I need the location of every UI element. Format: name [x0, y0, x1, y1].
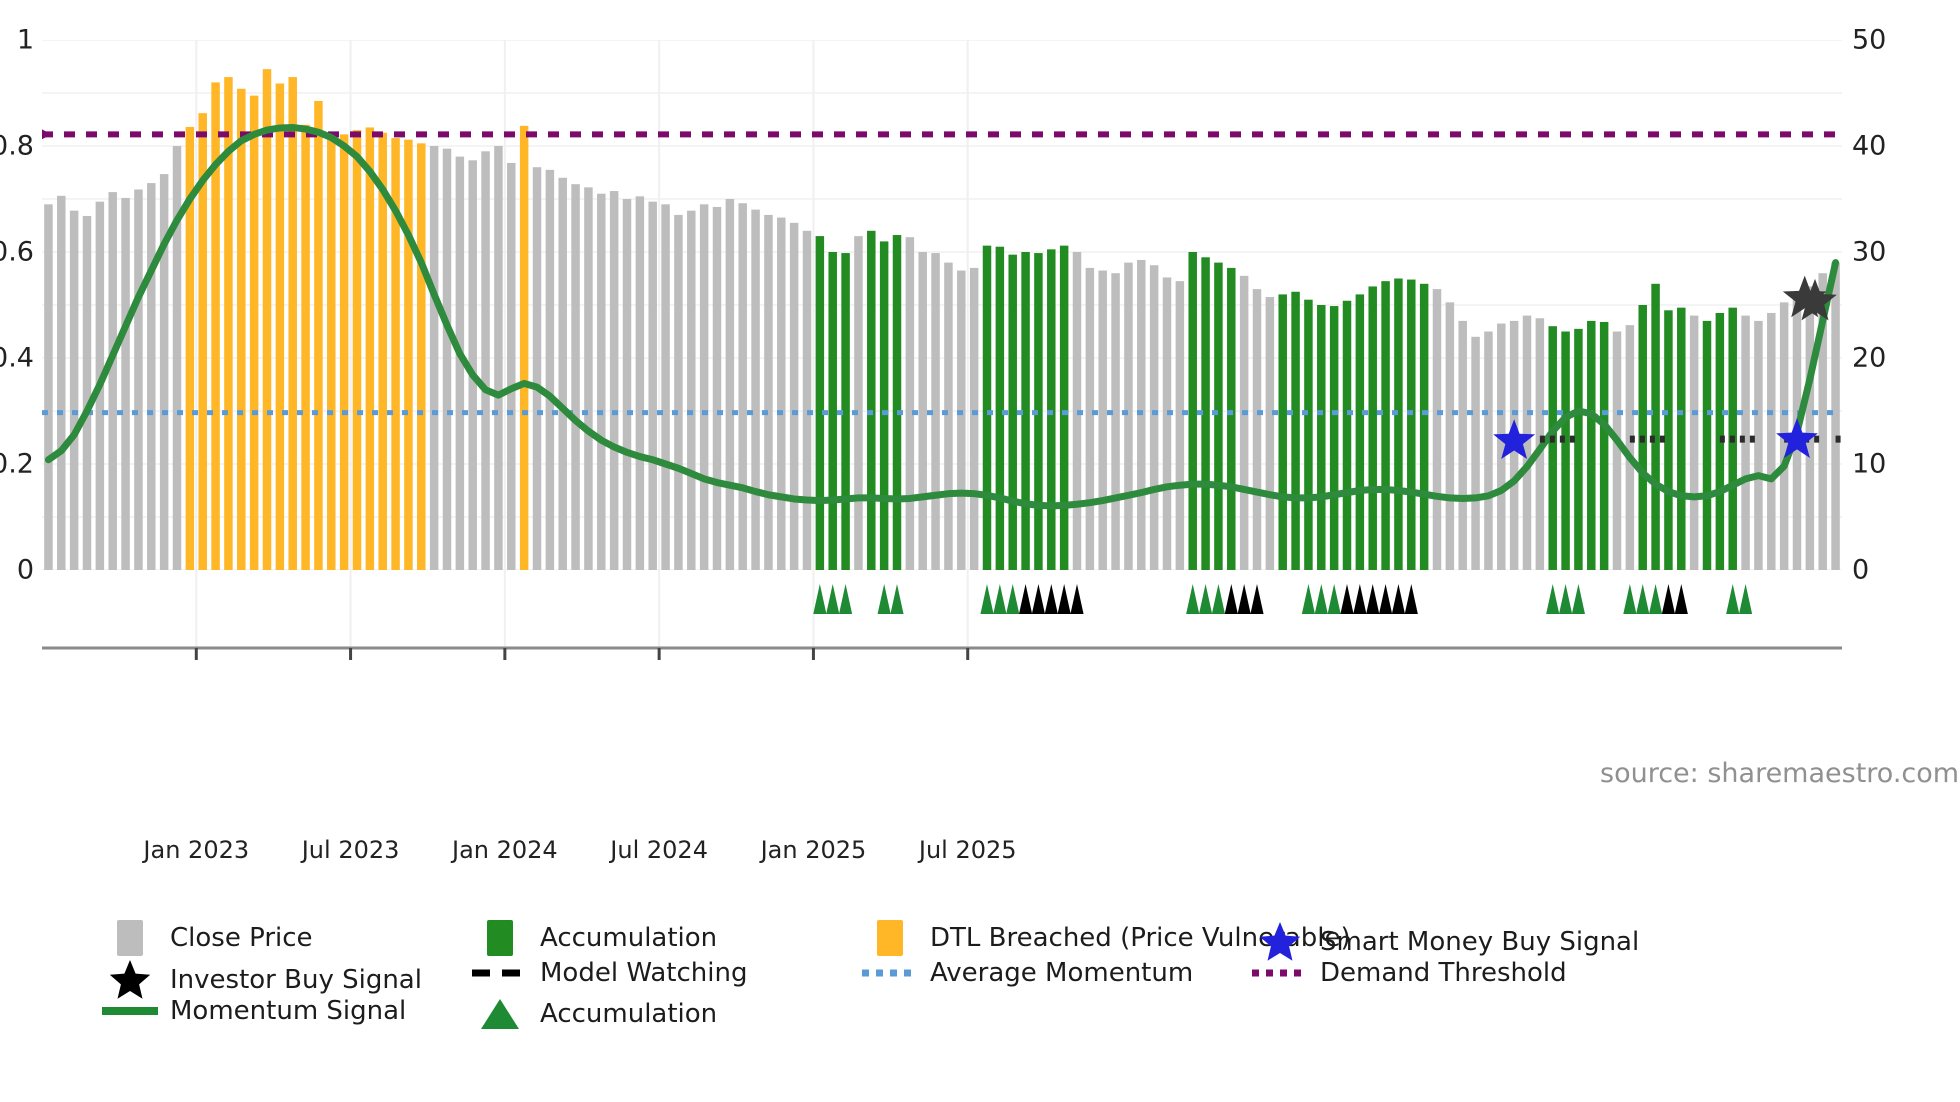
dotted-line-glyph	[860, 967, 920, 979]
accumulation-triangle-green	[878, 584, 891, 614]
color-swatch	[117, 920, 143, 956]
bar-close-price	[777, 218, 785, 570]
legend-average-momentum[interactable]: Average Momentum	[860, 958, 1193, 988]
bar-accumulation	[1574, 329, 1582, 570]
star-path	[1260, 922, 1300, 961]
bar-close-price	[1150, 265, 1158, 570]
bar-close-price	[44, 204, 52, 570]
left-axis-tick: 0.6	[0, 237, 34, 268]
bar-close-price	[571, 184, 579, 570]
accumulation-triangle-black	[1392, 584, 1405, 614]
chart-legend: Close PriceAccumulationDTL Breached (Pri…	[0, 920, 1960, 1070]
accumulation-triangle-black	[1250, 584, 1263, 614]
bar-close-price	[957, 271, 965, 570]
bar-close-price	[918, 252, 926, 570]
accumulation-triangle-green	[1636, 584, 1649, 614]
x-axis-tick: Jul 2023	[302, 836, 400, 864]
accumulation-triangle-black	[1379, 584, 1392, 614]
legend-label: Accumulation	[540, 923, 717, 953]
bar-close-price	[546, 170, 554, 570]
bar-close-price	[636, 196, 644, 570]
accumulation-triangle-green	[980, 584, 993, 614]
accumulation-triangle-green	[993, 584, 1006, 614]
x-axis: Jan 2023Jul 2023Jan 2024Jul 2024Jan 2025…	[42, 820, 1842, 860]
bar-dtl-breached	[520, 126, 528, 570]
bar-close-price	[1124, 263, 1132, 570]
bar-accumulation	[1227, 268, 1235, 570]
legend-model-watching[interactable]: Model Watching	[470, 958, 747, 988]
bar-close-price	[1458, 321, 1466, 570]
bar-dtl-breached	[276, 83, 284, 570]
dotted-line-icon	[1250, 967, 1310, 979]
legend-accumulation-triangle[interactable]: Accumulation	[470, 996, 717, 1032]
left-axis-tick: 0	[17, 555, 34, 586]
left-axis-tick: 0.8	[0, 131, 34, 162]
bar-close-price	[1240, 276, 1248, 570]
x-axis-tick: Jul 2025	[919, 836, 1017, 864]
accumulation-triangle-black	[1675, 584, 1688, 614]
bar-dtl-breached	[353, 130, 361, 570]
bar-dtl-breached	[250, 96, 258, 570]
bar-close-price	[533, 167, 541, 570]
bar-close-price	[751, 210, 759, 570]
color-swatch	[877, 920, 903, 956]
bar-accumulation	[1188, 252, 1196, 570]
accumulation-triangle-green	[1572, 584, 1585, 614]
bar-close-price	[430, 146, 438, 570]
bar-accumulation	[1651, 284, 1659, 570]
accumulation-triangle-black	[1353, 584, 1366, 614]
bar-accumulation	[1561, 332, 1569, 571]
bar-close-price	[494, 146, 502, 570]
left-axis-tick: 0.4	[0, 343, 34, 374]
dashed-line-glyph	[470, 966, 530, 980]
bar-accumulation	[1381, 281, 1389, 570]
bar-close-price	[1806, 286, 1814, 570]
legend-label: Model Watching	[540, 958, 747, 988]
bar-accumulation	[983, 246, 991, 570]
marker-strip	[42, 570, 1842, 820]
bar-close-price	[700, 204, 708, 570]
bar-close-price	[1433, 289, 1441, 570]
legend-momentum-signal[interactable]: Momentum Signal	[100, 996, 406, 1026]
bar-accumulation	[1060, 246, 1068, 570]
bar-accumulation	[867, 231, 875, 570]
bar-close-price	[481, 151, 489, 570]
x-axis-tick: Jan 2025	[761, 836, 867, 864]
bar-close-price	[507, 163, 515, 570]
bar-close-price	[70, 211, 78, 570]
bar-accumulation	[1587, 321, 1595, 570]
bar-accumulation	[816, 236, 824, 570]
right-axis-tick: 40	[1852, 131, 1886, 162]
bar-accumulation	[893, 235, 901, 570]
bar-close-price	[1471, 337, 1479, 570]
bar-dtl-breached	[263, 69, 271, 570]
triangle-path	[481, 999, 519, 1029]
bar-accumulation	[1703, 321, 1711, 570]
bar-close-price	[1613, 332, 1621, 571]
dotted-line-icon	[860, 967, 920, 979]
right-axis: 01020304050	[1852, 40, 1952, 570]
bar-accumulation	[996, 247, 1004, 570]
bar-close-price	[1484, 332, 1492, 571]
accumulation-triangle-green	[1726, 584, 1739, 614]
accumulation-triangle-green	[1006, 584, 1019, 614]
bar-accumulation	[1356, 294, 1364, 570]
accumulation-triangle-black	[1340, 584, 1353, 614]
triangle-glyph	[478, 996, 522, 1032]
bar-accumulation	[1407, 280, 1415, 570]
accumulation-triangle-green	[1199, 584, 1212, 614]
color-swatch	[487, 920, 513, 956]
source-note: source: sharemaestro.com	[1600, 758, 1959, 789]
legend-label: Demand Threshold	[1320, 958, 1567, 988]
legend-label: Investor Buy Signal	[170, 965, 422, 995]
accumulation-triangle-green	[1649, 584, 1662, 614]
bar-close-price	[108, 192, 116, 570]
bar-accumulation	[1343, 301, 1351, 570]
bar-close-price	[1626, 325, 1634, 570]
bar-dtl-breached	[237, 89, 245, 570]
bar-close-price	[944, 263, 952, 570]
x-axis-tick: Jan 2023	[143, 836, 249, 864]
bar-close-price	[1446, 302, 1454, 570]
accumulation-triangle-green	[826, 584, 839, 614]
accumulation-triangle-black	[1019, 584, 1032, 614]
bar-accumulation	[1291, 292, 1299, 570]
bar-close-price	[623, 199, 631, 570]
accumulation-triangle-green	[1328, 584, 1341, 614]
accumulation-triangle-green	[890, 584, 903, 614]
bar-close-price	[1098, 271, 1106, 570]
bar-dtl-breached	[404, 140, 412, 570]
accumulation-triangle-green	[1186, 584, 1199, 614]
accumulation-triangle-green	[1739, 584, 1752, 614]
accumulation-triangle-black	[1032, 584, 1045, 614]
bar-close-price	[1741, 316, 1749, 570]
bar-accumulation	[880, 241, 888, 570]
accumulation-triangle-black	[1405, 584, 1418, 614]
bar-accumulation	[1420, 284, 1428, 570]
bar-close-price	[1253, 289, 1261, 570]
bar-close-price	[906, 237, 914, 570]
bar-dtl-breached	[211, 82, 219, 570]
accumulation-triangle-green	[1559, 584, 1572, 614]
right-axis-tick: 0	[1852, 555, 1869, 586]
left-axis-tick: 1	[17, 25, 34, 56]
bar-close-price	[147, 183, 155, 570]
right-axis-tick: 30	[1852, 237, 1886, 268]
chart-page: 00.20.40.60.81 01020304050 Jan 2023Jul 2…	[0, 0, 1960, 1102]
square-icon	[860, 920, 920, 956]
bar-close-price	[1266, 297, 1274, 570]
accumulation-triangle-black	[1225, 584, 1238, 614]
bar-accumulation	[1600, 322, 1608, 570]
legend-demand-threshold[interactable]: Demand Threshold	[1250, 958, 1567, 988]
accumulation-triangle-black	[1238, 584, 1251, 614]
accumulation-triangle-black	[1058, 584, 1071, 614]
accumulation-triangle-green	[1315, 584, 1328, 614]
accumulation-triangle-green	[813, 584, 826, 614]
triangle-icon	[470, 996, 530, 1032]
legend-label: Momentum Signal	[170, 996, 406, 1026]
marker-strip-svg	[42, 570, 1842, 820]
legend-label: Accumulation	[540, 999, 717, 1029]
bar-dtl-breached	[301, 125, 309, 570]
bar-close-price	[610, 191, 618, 570]
bar-close-price	[83, 216, 91, 570]
bar-close-price	[584, 187, 592, 570]
bar-accumulation	[1008, 255, 1016, 570]
legend-label: Smart Money Buy Signal	[1320, 927, 1639, 957]
x-axis-tick: Jan 2024	[452, 836, 558, 864]
bar-accumulation	[1214, 263, 1222, 570]
dashed-line-icon	[470, 966, 530, 980]
bar-close-price	[134, 189, 142, 570]
accumulation-triangle-black	[1662, 584, 1675, 614]
bar-close-price	[738, 203, 746, 570]
legend-accumulation-bar[interactable]: Accumulation	[470, 920, 717, 956]
accumulation-triangle-black	[1366, 584, 1379, 614]
demand-threshold-start-marker	[42, 115, 51, 153]
bar-accumulation	[1394, 279, 1402, 571]
square-icon	[100, 920, 160, 956]
bar-dtl-breached	[417, 143, 425, 570]
bar-dtl-breached	[288, 77, 296, 570]
bar-close-price	[1767, 313, 1775, 570]
right-axis-tick: 20	[1852, 343, 1886, 374]
star-path	[110, 960, 150, 999]
right-axis-tick: 10	[1852, 449, 1886, 480]
bar-close-price	[1690, 316, 1698, 570]
bar-close-price	[726, 199, 734, 570]
bar-close-price	[597, 194, 605, 570]
bar-dtl-breached	[366, 127, 374, 570]
bar-close-price	[1176, 281, 1184, 570]
bar-close-price	[1111, 273, 1119, 570]
solid-line-icon	[100, 1005, 160, 1017]
chart-plot-area	[42, 40, 1842, 570]
bar-accumulation	[1330, 306, 1338, 570]
bar-close-price	[803, 231, 811, 570]
bar-dtl-breached	[314, 101, 322, 570]
bar-close-price	[558, 178, 566, 570]
bar-accumulation	[1047, 249, 1055, 570]
bar-close-price	[1754, 321, 1762, 570]
left-axis-tick: 0.2	[0, 449, 34, 480]
legend-label: Average Momentum	[930, 958, 1193, 988]
bar-accumulation	[1278, 294, 1286, 570]
bar-close-price	[687, 211, 695, 570]
bar-close-price	[1831, 263, 1839, 570]
bar-dtl-breached	[340, 134, 348, 570]
bar-close-price	[121, 198, 129, 570]
bar-close-price	[970, 268, 978, 570]
bar-accumulation	[1317, 305, 1325, 570]
bar-close-price	[443, 149, 451, 570]
square-icon	[470, 920, 530, 956]
bar-close-price	[1086, 268, 1094, 570]
bar-close-price	[854, 236, 862, 570]
legend-close-price[interactable]: Close Price	[100, 920, 313, 956]
bar-close-price	[648, 202, 656, 570]
bar-accumulation	[828, 252, 836, 570]
bar-close-price	[764, 215, 772, 570]
accumulation-triangle-black	[1070, 584, 1083, 614]
accumulation-triangle-green	[1212, 584, 1225, 614]
bar-close-price	[57, 196, 65, 570]
bar-close-price	[1163, 277, 1171, 570]
bar-close-price	[674, 215, 682, 570]
accumulation-triangle-green	[1546, 584, 1559, 614]
left-axis: 00.20.40.60.81	[0, 40, 34, 570]
bar-accumulation	[1677, 308, 1685, 570]
bar-close-price	[790, 223, 798, 570]
chart-svg	[42, 40, 1842, 570]
bar-close-price	[713, 207, 721, 570]
accumulation-triangle-green	[1302, 584, 1315, 614]
accumulation-triangle-green	[839, 584, 852, 614]
accumulation-triangle-green	[1623, 584, 1636, 614]
bar-accumulation	[1368, 286, 1376, 570]
legend-label: Close Price	[170, 923, 313, 953]
bar-accumulation	[1304, 300, 1312, 570]
bar-close-price	[1497, 324, 1505, 570]
bar-close-price	[661, 204, 669, 570]
bar-accumulation	[1548, 326, 1556, 570]
right-axis-tick: 50	[1852, 25, 1886, 56]
bar-dtl-breached	[327, 135, 335, 570]
x-axis-tick: Jul 2024	[610, 836, 708, 864]
dotted-line-glyph	[1250, 967, 1310, 979]
bar-accumulation	[1664, 310, 1672, 570]
accumulation-triangle-black	[1045, 584, 1058, 614]
solid-line-glyph	[100, 1005, 160, 1017]
